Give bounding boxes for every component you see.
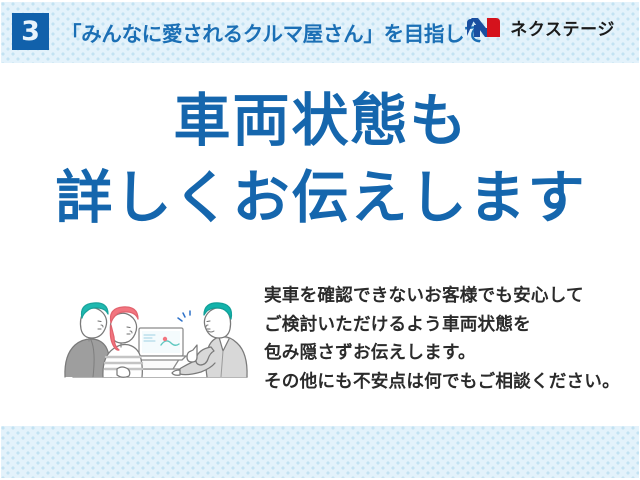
headline-line-2: 詳しくお伝えします (1, 170, 640, 227)
step-number-badge: 3 (12, 13, 49, 50)
body-copy: 実車を確認できないお客様でも安心して ご検討いただけるよう車両状態を 包み隠さず… (264, 281, 634, 395)
headline: 車両状態も 詳しくお伝えします (1, 93, 640, 227)
body-copy-line-2: ご検討いただけるよう車両状態を (264, 310, 634, 339)
footer-band (1, 426, 640, 478)
body-copy-line-4: その他にも不安点は何でもご相談ください。 (264, 367, 634, 396)
consultation-illustration-svg (51, 273, 256, 393)
brand-name: ネクステージ (510, 15, 615, 40)
nextage-logo-mark (465, 16, 503, 39)
content-area: 実車を確認できないお客様でも安心して ご検討いただけるよう車両状態を 包み隠さず… (1, 273, 640, 403)
headline-line-1: 車両状態も (1, 93, 640, 150)
promo-banner: 3 「みんなに愛されるクルマ屋さん」を目指して 車両状態も 詳しくお伝えします (0, 0, 640, 480)
consultation-illustration (51, 273, 256, 393)
footer: ネクステージ (465, 1, 615, 53)
header-title: 「みんなに愛されるクルマ屋さん」を目指して (61, 17, 484, 47)
nextage-logo-icon (465, 16, 503, 39)
body-copy-line-3: 包み隠さずお伝えします。 (264, 338, 634, 367)
body-copy-line-1: 実車を確認できないお客様でも安心して (264, 281, 634, 310)
